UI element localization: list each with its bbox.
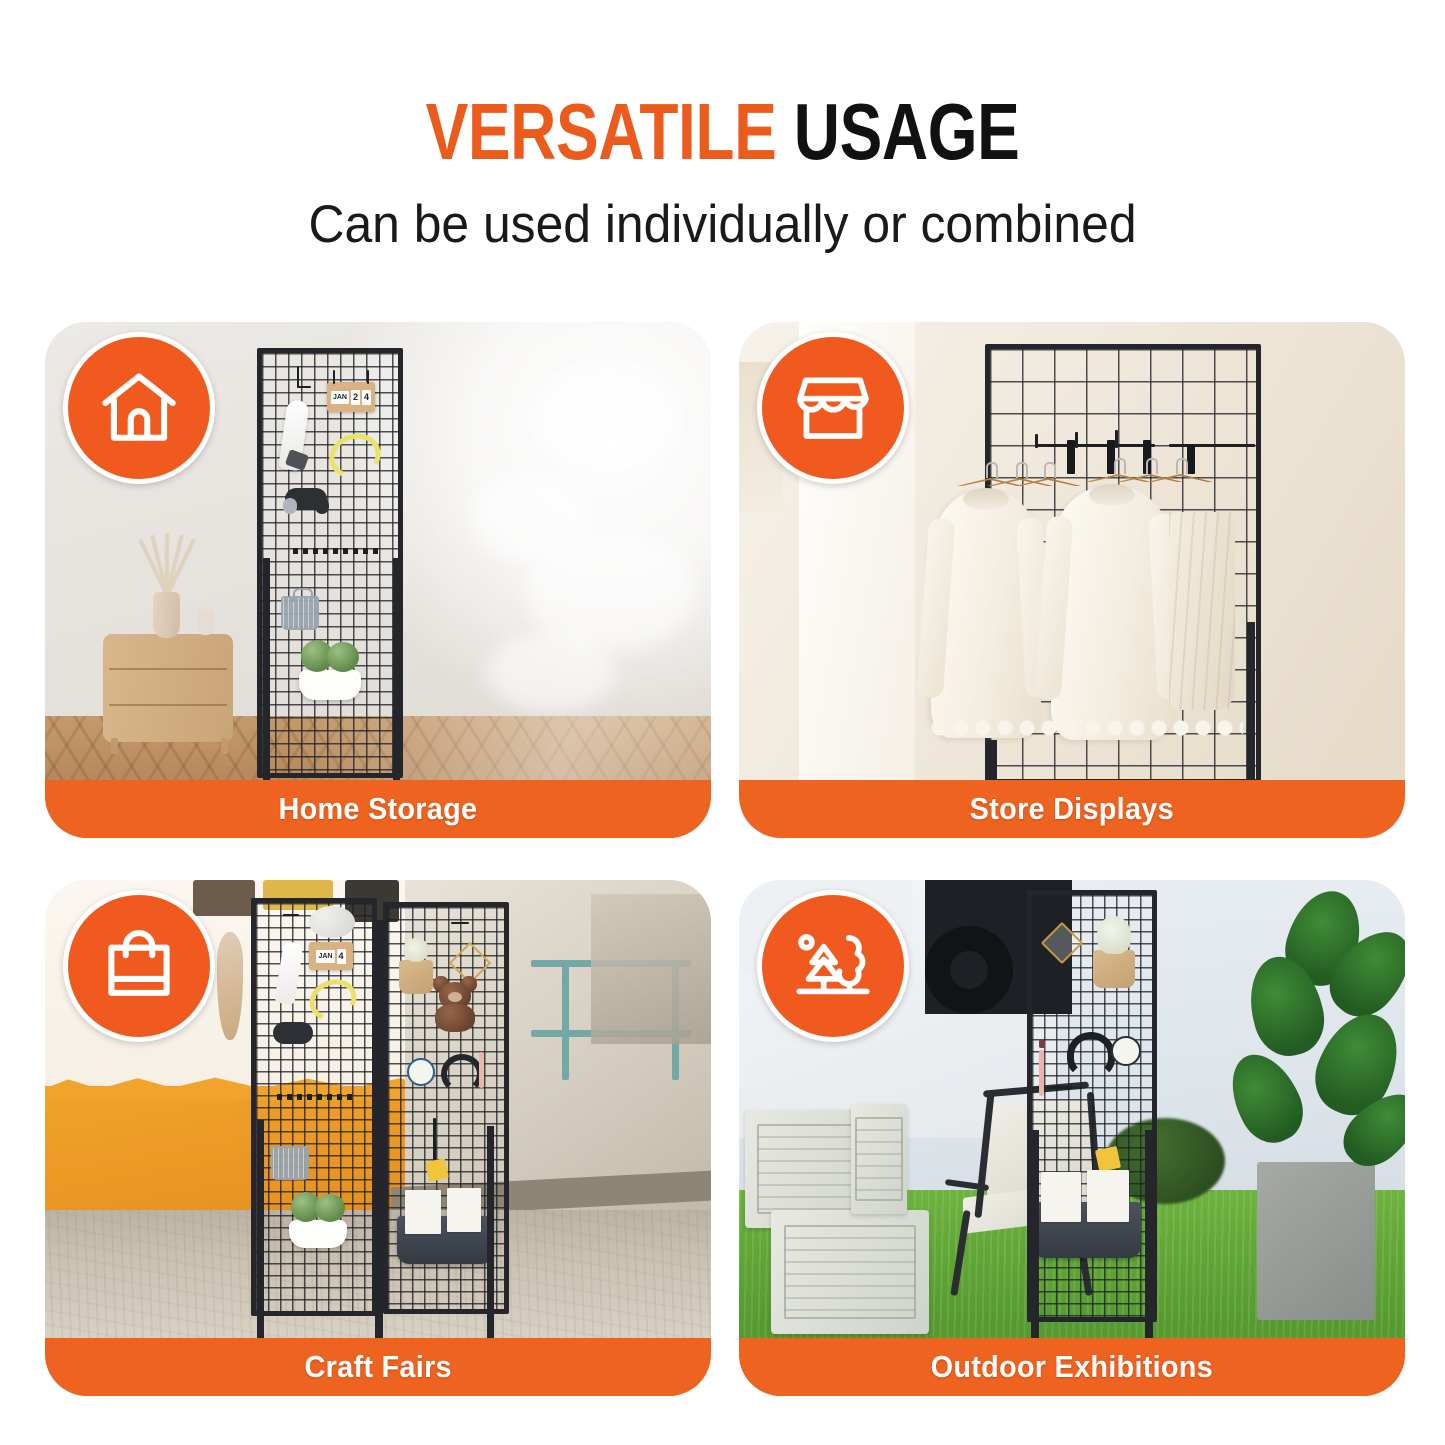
badge-home-storage <box>63 332 215 484</box>
storage-basket <box>271 1146 309 1180</box>
headline-accent: VERSATILE <box>426 87 777 176</box>
panel-label-outdoor-exhibitions: Outdoor Exhibitions <box>931 1349 1213 1385</box>
hanging-basket <box>399 960 433 994</box>
planter-box <box>289 1220 347 1248</box>
page-title: VERSATILE USAGE <box>145 92 1301 172</box>
calendar-day-ones: 4 <box>362 390 371 405</box>
label-bar-store-displays: Store Displays <box>739 780 1405 838</box>
monstera-plant <box>1209 890 1405 1190</box>
panel-store-displays[interactable]: Store Displays <box>739 322 1405 838</box>
nightstand <box>103 634 233 742</box>
panel-outdoor-exhibitions[interactable]: Outdoor Exhibitions <box>739 880 1405 1396</box>
price-tag <box>1095 1146 1121 1172</box>
calendar-day: 4 <box>337 949 346 964</box>
badge-outdoor-exhibitions <box>757 890 909 1042</box>
game-controller <box>273 1022 313 1044</box>
hanger <box>1147 464 1213 484</box>
calendar-month: JAN <box>316 950 334 963</box>
shopping-bag-icon <box>96 923 182 1009</box>
store-icon <box>790 365 876 451</box>
vase <box>153 592 180 638</box>
usage-panel-grid: JAN 2 4 <box>45 322 1405 1396</box>
page-subtitle: Can be used individually or combined <box>43 172 1401 251</box>
planter-box <box>299 670 361 700</box>
label-bar-craft-fairs: Craft Fairs <box>45 1338 711 1396</box>
hanger <box>1015 468 1081 488</box>
crate <box>771 1210 929 1334</box>
home-icon <box>96 365 182 451</box>
brochure <box>1041 1172 1081 1222</box>
panel-home-storage[interactable]: JAN 2 4 <box>45 322 711 838</box>
label-bar-outdoor-exhibitions: Outdoor Exhibitions <box>739 1338 1405 1396</box>
calendar-block: JAN 2 4 <box>327 382 375 412</box>
panel-label-craft-fairs: Craft Fairs <box>304 1349 451 1385</box>
price-tag <box>425 1158 449 1182</box>
header: VERSATILE USAGE Can be used individually… <box>0 0 1445 251</box>
panel-craft-fairs[interactable]: JAN 4 <box>45 880 711 1396</box>
grid-panel-rack <box>1027 890 1157 1322</box>
headphones <box>441 1054 483 1094</box>
clock <box>407 1058 435 1086</box>
brochure <box>1087 1170 1129 1222</box>
headphones <box>1067 1032 1115 1078</box>
teddy-bear <box>431 976 483 1032</box>
brochure <box>447 1188 481 1232</box>
grid-panel-rack-left: JAN 4 <box>251 898 377 1316</box>
park-trees-icon <box>790 923 876 1009</box>
panel-label-home-storage: Home Storage <box>279 791 478 827</box>
alarm-clock <box>1111 1036 1141 1066</box>
badge-craft-fairs <box>63 890 215 1042</box>
small-vase <box>197 609 214 635</box>
woven-basket <box>1093 950 1135 988</box>
badge-store-displays <box>757 332 909 484</box>
crate <box>851 1104 907 1214</box>
hook-strip <box>293 548 379 554</box>
headline-dark: USAGE <box>776 87 1019 176</box>
panel-label-store-displays: Store Displays <box>970 791 1174 827</box>
pampas-grass <box>141 515 193 595</box>
calendar-block: JAN 4 <box>309 942 353 970</box>
label-bar-home-storage: Home Storage <box>45 780 711 838</box>
brochure <box>405 1190 441 1234</box>
calendar-month: JAN <box>331 391 349 404</box>
grid-panel-rack: JAN 2 4 <box>257 348 403 778</box>
calendar-day-tens: 2 <box>351 390 360 405</box>
